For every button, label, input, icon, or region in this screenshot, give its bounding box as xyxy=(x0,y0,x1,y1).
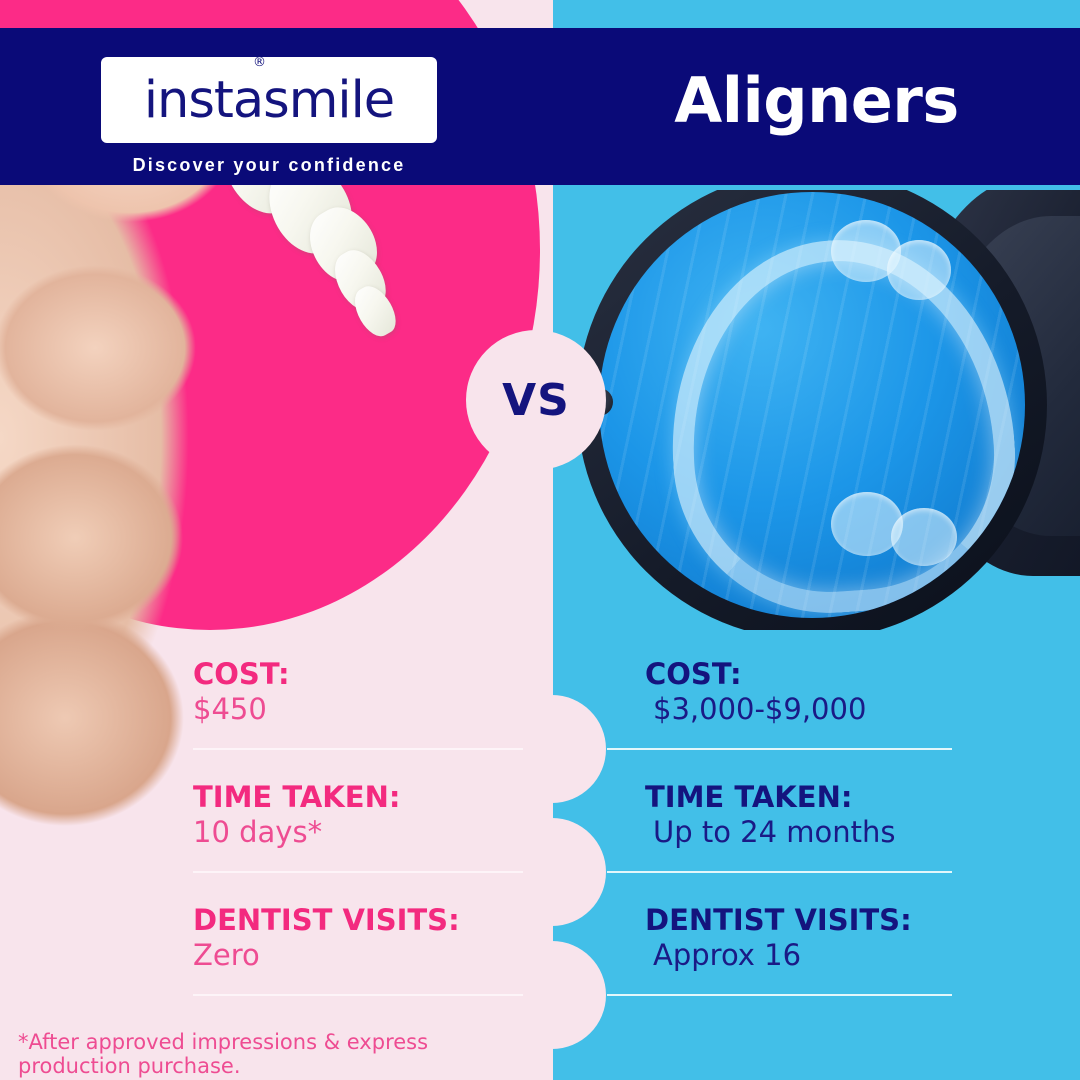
clear-aligner-in-blue-case-photo xyxy=(553,190,1080,630)
right-spec-list: COST: $3,000-$9,000 TIME TAKEN: Up to 24… xyxy=(645,657,1045,1026)
spec-value: Approx 16 xyxy=(645,937,1045,975)
footnote-text: *After approved impressions & express pr… xyxy=(18,1030,538,1078)
clear-aligner-tray xyxy=(658,229,1025,618)
spec-label: TIME TAKEN: xyxy=(645,780,1045,814)
aligner-case-base xyxy=(577,190,1047,630)
left-spec-list: COST: $450 TIME TAKEN: 10 days* DENTIST … xyxy=(193,657,523,1026)
spec-row-dentist-visits: DENTIST VISITS: Approx 16 xyxy=(645,903,1045,1026)
spec-value: Up to 24 months xyxy=(645,814,1045,852)
aligner-case-interior xyxy=(599,192,1025,618)
spec-row-time-taken: TIME TAKEN: 10 days* xyxy=(193,780,523,903)
spec-row-dentist-visits: DENTIST VISITS: Zero xyxy=(193,903,523,1026)
spec-row-cost: COST: $450 xyxy=(193,657,523,780)
spec-value: $450 xyxy=(193,691,523,729)
spec-label: COST: xyxy=(193,657,523,691)
spec-label: COST: xyxy=(645,657,1045,691)
brand-wordmark: instasmile xyxy=(144,71,394,130)
versus-badge: VS xyxy=(466,330,606,470)
spec-row-cost: COST: $3,000-$9,000 xyxy=(645,657,1045,780)
spec-value: Zero xyxy=(193,937,523,975)
brand-tagline: Discover your confidence xyxy=(101,155,437,176)
spec-label: DENTIST VISITS: xyxy=(645,903,1045,937)
spec-value: $3,000-$9,000 xyxy=(645,691,1045,729)
spec-label: TIME TAKEN: xyxy=(193,780,523,814)
spec-label: DENTIST VISITS: xyxy=(193,903,523,937)
comparison-infographic: instasmile ® Discover your confidence Al… xyxy=(0,0,1080,1080)
instasmile-logo: instasmile ® xyxy=(101,57,437,143)
registered-trademark-icon: ® xyxy=(253,55,265,70)
spec-row-time-taken: TIME TAKEN: Up to 24 months xyxy=(645,780,1045,903)
page-title-aligners: Aligners xyxy=(553,64,1080,137)
spec-value: 10 days* xyxy=(193,814,523,852)
